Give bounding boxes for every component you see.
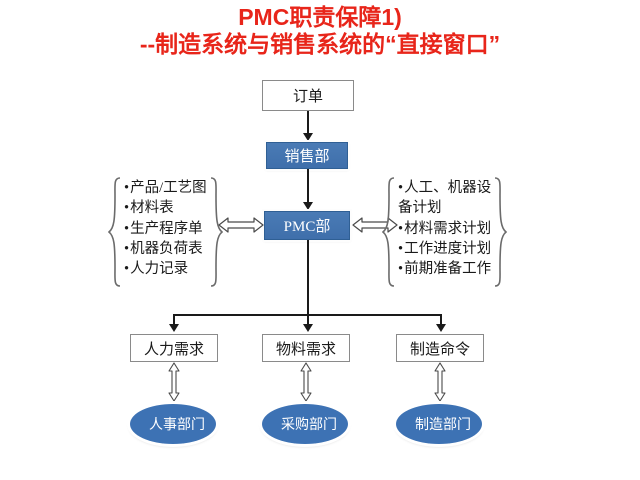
ellipse-purchasing-department-label: 采购部门: [281, 414, 337, 434]
list-item: 人工、机器设: [398, 178, 491, 198]
list-item: 人力记录: [124, 259, 207, 279]
node-manufacturing-order-label: 制造命令: [410, 338, 470, 359]
down-arrow-icon: [303, 324, 313, 332]
node-hr-demand[interactable]: 人力需求: [130, 334, 218, 362]
down-arrow-icon: [303, 133, 313, 141]
node-pmc-dept[interactable]: PMC部: [264, 211, 350, 240]
ellipse-hr-department-label: 人事部门: [149, 414, 205, 434]
list-item: 机器负荷表: [124, 239, 207, 259]
right-curly-brace-icon: [493, 176, 507, 293]
list-item: 材料需求计划: [398, 219, 491, 239]
node-order-label: 订单: [293, 85, 323, 106]
ellipse-hr-department[interactable]: 人事部门: [130, 404, 216, 444]
node-material-demand[interactable]: 物料需求: [262, 334, 350, 362]
ellipse-manufacturing-department-label: 制造部门: [415, 414, 471, 434]
left-inputs-list: 产品/工艺图 材料表 生产程序单 机器负荷表 人力记录: [122, 176, 209, 293]
list-item-continuation: 备计划: [398, 198, 491, 218]
ellipse-purchasing-department[interactable]: 采购部门: [262, 404, 348, 444]
updown-arrow-icon-manufacturing: [432, 362, 448, 402]
down-arrow-icon: [436, 324, 446, 332]
list-item: 材料表: [124, 198, 207, 218]
connector-order-to-sales: [307, 111, 309, 134]
node-pmc-dept-label: PMC部: [284, 215, 331, 236]
list-item: 工作进度计划: [398, 239, 491, 259]
node-sales-dept[interactable]: 销售部: [266, 142, 348, 169]
ellipse-manufacturing-department[interactable]: 制造部门: [396, 404, 482, 444]
title-line-1: PMC职责保障1): [0, 4, 640, 31]
connector-sales-to-pmc: [307, 169, 309, 203]
exchange-arrow-icon-left: [218, 216, 264, 234]
left-curly-brace-icon: [108, 176, 122, 293]
list-item: 前期准备工作: [398, 259, 491, 279]
node-manufacturing-order[interactable]: 制造命令: [396, 334, 484, 362]
right-outputs-list: 人工、机器设 备计划 材料需求计划 工作进度计划 前期准备工作: [396, 176, 493, 293]
right-curly-brace-icon: [209, 176, 223, 293]
down-arrow-icon: [303, 202, 313, 210]
updown-arrow-icon-purchasing: [298, 362, 314, 402]
title-line-2: --制造系统与销售系统的“直接窗口”: [0, 31, 640, 58]
list-item: 生产程序单: [124, 219, 207, 239]
node-hr-demand-label: 人力需求: [144, 338, 204, 359]
list-item: 产品/工艺图: [124, 178, 207, 198]
left-inputs-group: 产品/工艺图 材料表 生产程序单 机器负荷表 人力记录: [108, 176, 223, 293]
right-outputs-group: 人工、机器设 备计划 材料需求计划 工作进度计划 前期准备工作: [382, 176, 507, 293]
down-arrow-icon: [169, 324, 179, 332]
node-order[interactable]: 订单: [262, 80, 354, 111]
node-material-demand-label: 物料需求: [276, 338, 336, 359]
connector-pmc-trunk: [307, 240, 309, 315]
updown-arrow-icon-hr: [166, 362, 182, 402]
left-curly-brace-icon: [382, 176, 396, 293]
node-sales-dept-label: 销售部: [284, 145, 329, 166]
page-title: PMC职责保障1) --制造系统与销售系统的“直接窗口”: [0, 4, 640, 58]
